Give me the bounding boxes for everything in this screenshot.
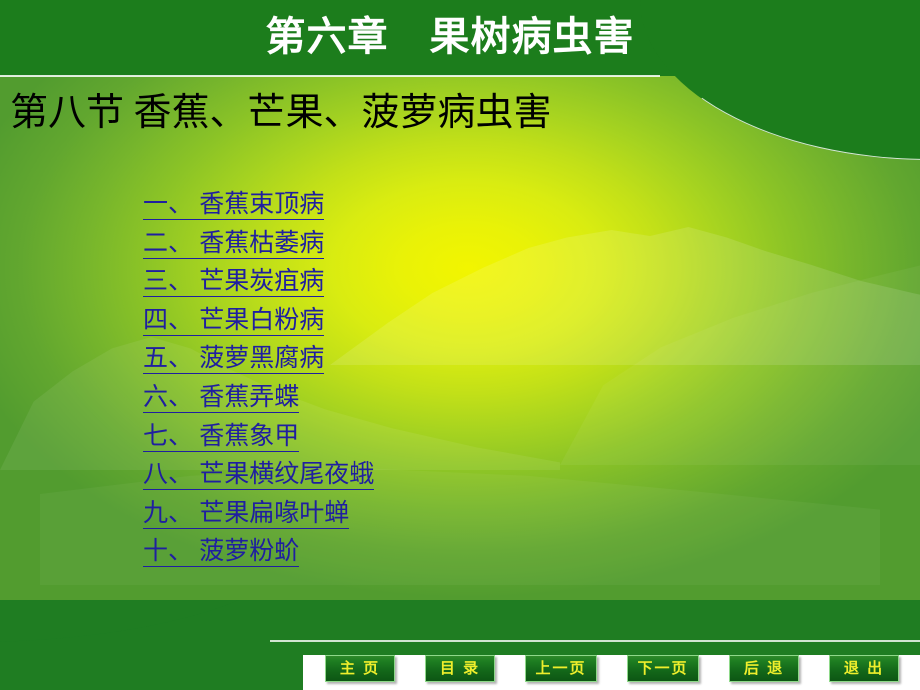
topic-link-9-label: 九、 芒果扁喙叶蝉 [143,500,349,529]
footer-divider-line [270,640,920,642]
exit-button[interactable]: 退 出 [829,655,899,682]
topic-link-10-label: 十、 菠萝粉蚧 [143,538,299,567]
topic-link-6-label: 六、 香蕉弄蝶 [143,384,299,413]
topic-link-2-label: 二、 香蕉枯萎病 [143,230,324,259]
topic-link-8[interactable]: 八、 芒果横纹尾夜蛾 [143,456,374,495]
topic-link-7-label: 七、 香蕉象甲 [143,423,299,452]
topic-link-3[interactable]: 三、 芒果炭疽病 [143,263,324,302]
topic-link-2[interactable]: 二、 香蕉枯萎病 [143,225,324,264]
topic-link-9[interactable]: 九、 芒果扁喙叶蝉 [143,495,349,534]
topic-link-8-label: 八、 芒果横纹尾夜蛾 [143,461,374,490]
topic-link-4-label: 四、 芒果白粉病 [143,307,324,336]
footer-curve-decoration [0,600,300,642]
topic-link-7[interactable]: 七、 香蕉象甲 [143,418,299,457]
topic-link-5[interactable]: 五、 菠萝黑腐病 [143,340,324,379]
topic-link-10[interactable]: 十、 菠萝粉蚧 [143,533,299,572]
navigation-bar: 主 页 目 录 上一页 下一页 后 退 退 出 [0,652,920,690]
topic-link-6[interactable]: 六、 香蕉弄蝶 [143,379,299,418]
chapter-title: 第六章 果树病虫害 [0,9,900,65]
topic-link-4[interactable]: 四、 芒果白粉病 [143,302,324,341]
topic-link-1[interactable]: 一、 香蕉束顶病 [143,186,324,225]
contents-button[interactable]: 目 录 [425,655,495,682]
topic-link-5-label: 五、 菠萝黑腐病 [143,345,324,374]
presentation-slide: 第六章 果树病虫害 第八节 香蕉、芒果、菠萝病虫害 一、 香蕉束顶病 二、 香蕉… [0,0,920,690]
header-divider-line [0,75,660,77]
previous-page-button[interactable]: 上一页 [525,655,597,682]
topic-link-1-label: 一、 香蕉束顶病 [143,191,324,220]
section-title: 第八节 香蕉、芒果、菠萝病虫害 [10,88,710,138]
topic-link-list: 一、 香蕉束顶病 二、 香蕉枯萎病 三、 芒果炭疽病 四、 芒果白粉病 五、 菠… [143,186,623,572]
topic-link-3-label: 三、 芒果炭疽病 [143,268,324,297]
back-button[interactable]: 后 退 [729,655,799,682]
next-page-button[interactable]: 下一页 [627,655,699,682]
home-button[interactable]: 主 页 [325,655,395,682]
